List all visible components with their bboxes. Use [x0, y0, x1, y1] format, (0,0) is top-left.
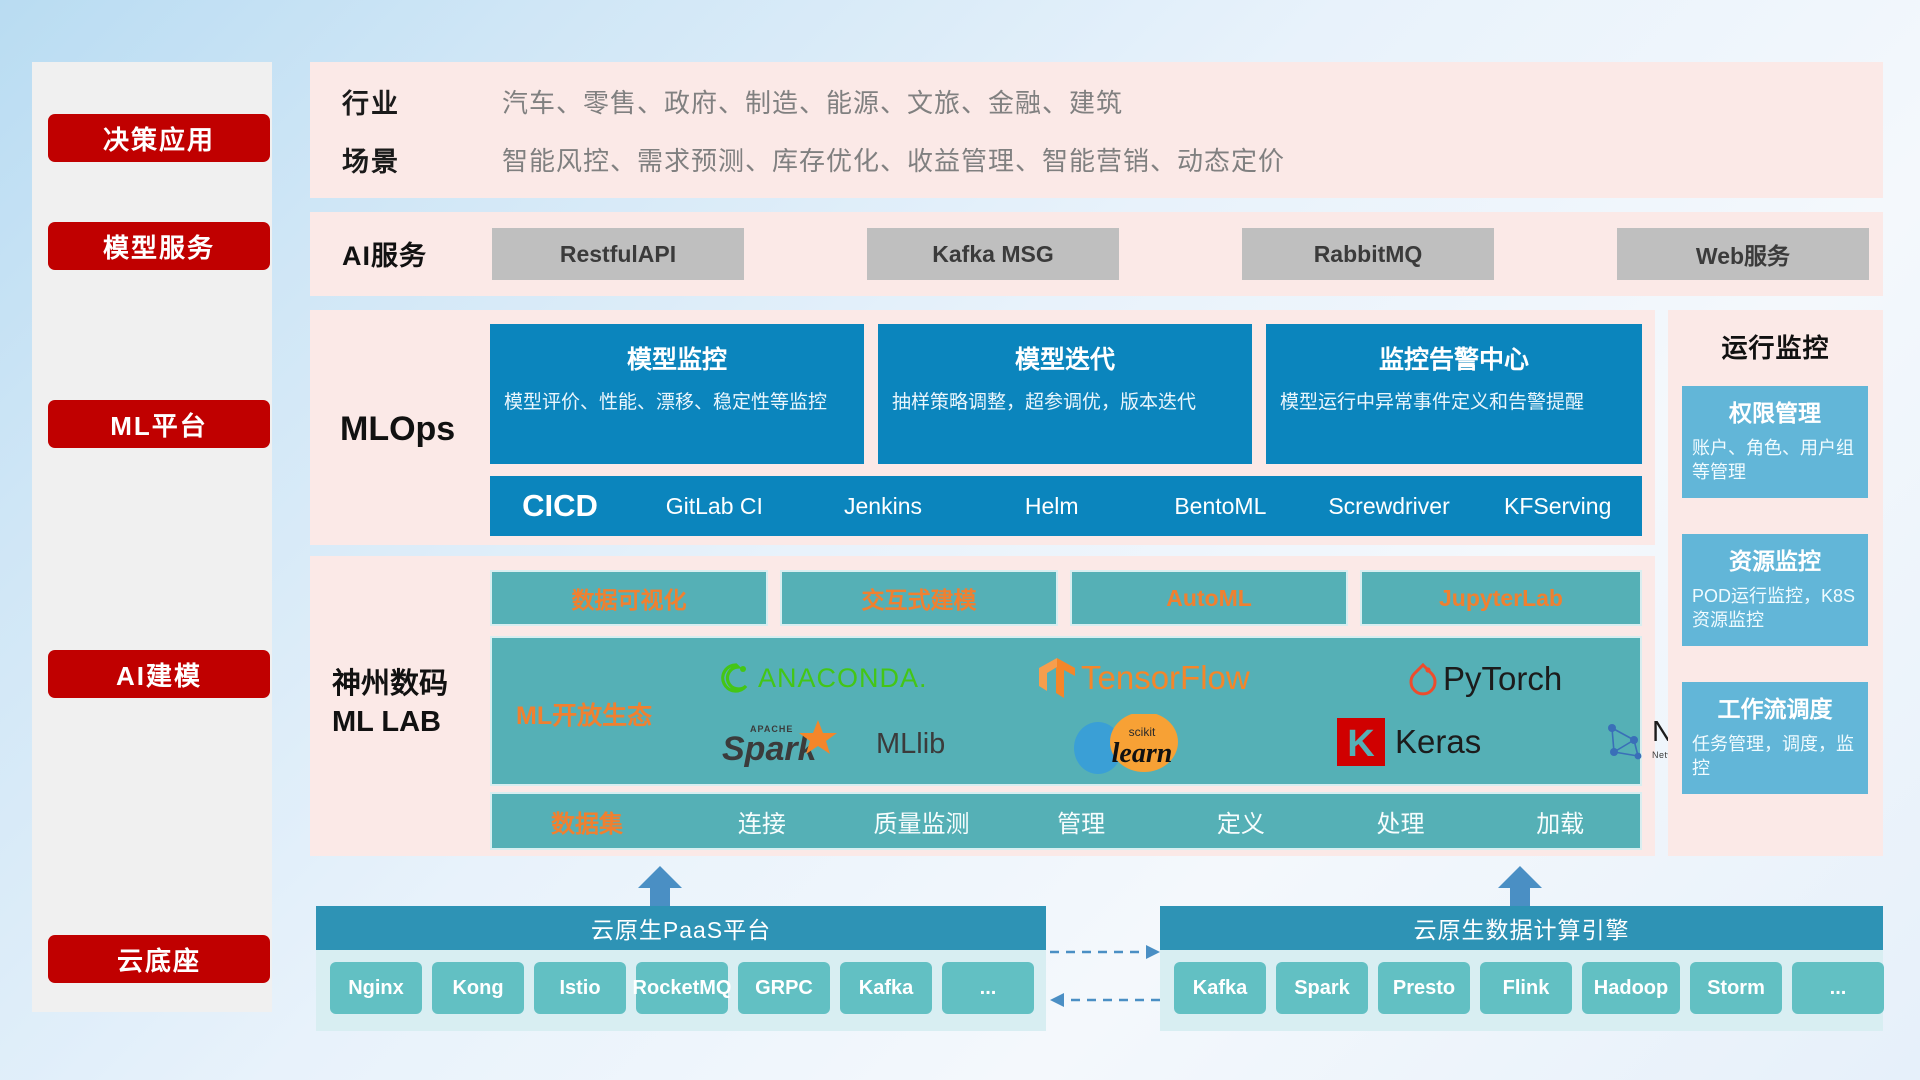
- rail-item-cloud-base[interactable]: 云底座: [48, 935, 270, 983]
- rail-item-ml-platform[interactable]: ML平台: [48, 400, 270, 448]
- mllib-label: MLlib: [876, 728, 945, 761]
- chip-more-right[interactable]: ...: [1792, 962, 1884, 1014]
- tool-label: JupyterLab: [1439, 585, 1563, 612]
- scikit-learn-logo: scikit learn: [1072, 714, 1252, 776]
- scikit-learn-icon: scikit learn: [1072, 714, 1252, 776]
- keras-logo: K Keras: [1337, 718, 1481, 766]
- dataset-item-management[interactable]: 管理: [1001, 804, 1161, 839]
- spark-icon: Spark APACHE: [720, 718, 870, 770]
- chip-kafka-left[interactable]: Kafka: [840, 962, 932, 1014]
- rail-label: 决策应用: [103, 120, 215, 157]
- card-desc: POD运行监控，K8S资源监控: [1692, 584, 1858, 633]
- chip-label: RocketMQ: [633, 977, 732, 999]
- chip-spark[interactable]: Spark: [1276, 962, 1368, 1014]
- mlops-card-model-monitoring[interactable]: 模型监控 模型评价、性能、漂移、稳定性等监控: [490, 324, 864, 464]
- engine-title-right: 云原生数据计算引擎: [1160, 906, 1883, 950]
- ai-service-band: AI服务 RestfulAPI Kafka MSG RabbitMQ Web服务: [310, 212, 1883, 296]
- chip-label: Istio: [559, 977, 600, 999]
- tool-label: AutoML: [1166, 585, 1252, 612]
- rail-label: AI建模: [116, 656, 202, 693]
- chip-presto[interactable]: Presto: [1378, 962, 1470, 1014]
- paas-title-left: 云原生PaaS平台: [316, 906, 1046, 950]
- card-title: 资源监控: [1692, 542, 1858, 576]
- bidirectional-connector: [1046, 940, 1166, 1020]
- keras-label: Keras: [1395, 723, 1481, 761]
- chip-rocketmq[interactable]: RocketMQ: [636, 962, 728, 1014]
- cicd-item-gitlab-ci[interactable]: GitLab CI: [630, 493, 799, 519]
- mlops-band: MLOps 模型监控 模型评价、性能、漂移、稳定性等监控 模型迭代 抽样策略调整…: [310, 310, 1655, 545]
- tensorflow-logo: TensorFlow: [1037, 656, 1250, 700]
- runtime-monitoring-title: 运行监控: [1668, 310, 1883, 365]
- cicd-label: CICD: [490, 488, 630, 524]
- cicd-bar: CICD GitLab CI Jenkins Helm BentoML Scre…: [490, 476, 1642, 536]
- tool-interactive-modeling[interactable]: 交互式建模: [780, 570, 1058, 626]
- tool-data-visualization[interactable]: 数据可视化: [490, 570, 768, 626]
- spark-mllib-logo: Spark APACHE MLlib: [720, 718, 945, 770]
- dataset-bar: 数据集 连接 质量监测 管理 定义 处理 加载: [490, 792, 1642, 850]
- card-title: 监控告警中心: [1280, 340, 1628, 376]
- dataset-item-quality-monitoring[interactable]: 质量监测: [842, 804, 1002, 839]
- rail-label: ML平台: [110, 406, 208, 443]
- cicd-item-screwdriver[interactable]: Screwdriver: [1305, 493, 1474, 519]
- service-box-web-service[interactable]: Web服务: [1617, 228, 1869, 280]
- chip-storm[interactable]: Storm: [1690, 962, 1782, 1014]
- card-desc: 任务管理，调度，监控: [1692, 732, 1858, 781]
- tool-automl[interactable]: AutoML: [1070, 570, 1348, 626]
- chip-label: Flink: [1503, 977, 1550, 999]
- industry-list: 汽车、零售、政府、制造、能源、文旅、金融、建筑: [502, 83, 1123, 120]
- card-title: 权限管理: [1692, 394, 1858, 428]
- mlops-card-model-iteration[interactable]: 模型迭代 抽样策略调整，超参调优，版本迭代: [878, 324, 1252, 464]
- scenario-label: 场景: [342, 140, 502, 179]
- card-title: 工作流调度: [1692, 690, 1858, 724]
- service-box-label: Web服务: [1696, 237, 1790, 271]
- chip-nginx[interactable]: Nginx: [330, 962, 422, 1014]
- dataset-item-loading[interactable]: 加载: [1480, 804, 1640, 839]
- runtime-monitoring-panel: 运行监控 权限管理 账户、角色、用户组等管理 资源监控 POD运行监控，K8S资…: [1668, 310, 1883, 856]
- networkx-icon: [1602, 718, 1646, 764]
- engine-title-label: 云原生数据计算引擎: [1414, 911, 1630, 945]
- chip-flink[interactable]: Flink: [1480, 962, 1572, 1014]
- chip-label: Kafka: [859, 977, 913, 999]
- left-rail: [32, 62, 272, 1012]
- chip-label: Hadoop: [1594, 977, 1668, 999]
- ml-ecosystem-title: ML开放生态: [516, 696, 652, 732]
- card-desc: 模型运行中异常事件定义和告警提醒: [1280, 390, 1628, 416]
- chip-label: Presto: [1393, 977, 1455, 999]
- architecture-diagram: 决策应用 模型服务 ML平台 AI建模 云底座 行业 汽车、零售、政府、制造、能…: [0, 0, 1920, 1080]
- cicd-item-jenkins[interactable]: Jenkins: [799, 493, 968, 519]
- rail-item-model-service[interactable]: 模型服务: [48, 222, 270, 270]
- chip-label: ...: [980, 977, 997, 999]
- chip-label: Storm: [1707, 977, 1765, 999]
- mon-card-resource[interactable]: 资源监控 POD运行监控，K8S资源监控: [1682, 534, 1868, 646]
- card-title: 模型迭代: [892, 340, 1238, 376]
- mlops-card-alert-center[interactable]: 监控告警中心 模型运行中异常事件定义和告警提醒: [1266, 324, 1642, 464]
- keras-icon: K: [1337, 718, 1385, 766]
- chip-label: Kafka: [1193, 977, 1247, 999]
- svg-text:scikit: scikit: [1129, 725, 1156, 739]
- svg-text:learn: learn: [1112, 738, 1173, 769]
- chip-grpc[interactable]: GRPC: [738, 962, 830, 1014]
- industry-label: 行业: [342, 82, 502, 121]
- tool-label: 交互式建模: [862, 581, 977, 615]
- tool-label: 数据可视化: [572, 581, 687, 615]
- rail-item-decision-app[interactable]: 决策应用: [48, 114, 270, 162]
- chip-label: Kong: [452, 977, 503, 999]
- ai-modeling-band: 神州数码 ML LAB 数据可视化 交互式建模 AutoML JupyterLa…: [310, 556, 1655, 856]
- anaconda-icon: [720, 662, 752, 694]
- industry-scenario-band: 行业 汽车、零售、政府、制造、能源、文旅、金融、建筑 场景 智能风控、需求预测、…: [310, 62, 1883, 198]
- scenario-list: 智能风控、需求预测、库存优化、收益管理、智能营销、动态定价: [502, 141, 1285, 178]
- ml-lab-label: 神州数码 ML LAB: [332, 666, 448, 741]
- tool-jupyterlab[interactable]: JupyterLab: [1360, 570, 1642, 626]
- service-box-rabbitmq[interactable]: RabbitMQ: [1242, 228, 1494, 280]
- chip-label: Nginx: [348, 977, 404, 999]
- ai-service-label: AI服务: [342, 234, 427, 273]
- arrow-up-right-icon: [1490, 866, 1550, 910]
- chip-label: Spark: [1294, 977, 1350, 999]
- chip-kafka-right[interactable]: Kafka: [1174, 962, 1266, 1014]
- pytorch-label: PyTorch: [1443, 660, 1562, 698]
- ml-lab-label-line2: ML LAB: [332, 704, 448, 742]
- anaconda-label: ANACONDA.: [758, 663, 928, 694]
- rail-label: 云底座: [117, 941, 201, 978]
- card-desc: 抽样策略调整，超参调优，版本迭代: [892, 390, 1238, 416]
- dataset-label: 数据集: [492, 804, 682, 839]
- service-box-label: RabbitMQ: [1314, 241, 1423, 268]
- chip-label: ...: [1830, 977, 1847, 999]
- cicd-item-helm[interactable]: Helm: [967, 493, 1136, 519]
- mon-card-workflow[interactable]: 工作流调度 任务管理，调度，监控: [1682, 682, 1868, 794]
- chip-label: GRPC: [755, 977, 813, 999]
- anaconda-logo: ANACONDA.: [720, 662, 928, 694]
- paas-title-label: 云原生PaaS平台: [591, 911, 771, 945]
- service-box-restfulapi[interactable]: RestfulAPI: [492, 228, 744, 280]
- tensorflow-icon: [1037, 656, 1077, 700]
- chip-hadoop[interactable]: Hadoop: [1582, 962, 1680, 1014]
- cicd-item-bentoml[interactable]: BentoML: [1136, 493, 1305, 519]
- tensorflow-label: TensorFlow: [1081, 659, 1250, 697]
- mon-card-permission[interactable]: 权限管理 账户、角色、用户组等管理: [1682, 386, 1868, 498]
- chip-istio[interactable]: Istio: [534, 962, 626, 1014]
- service-box-label: RestfulAPI: [560, 241, 676, 268]
- service-box-label: Kafka MSG: [932, 241, 1053, 268]
- arrow-up-left-icon: [630, 866, 690, 910]
- service-box-kafka-msg[interactable]: Kafka MSG: [867, 228, 1119, 280]
- dataset-item-connect[interactable]: 连接: [682, 804, 842, 839]
- mlops-label: MLOps: [340, 410, 455, 449]
- chip-kong[interactable]: Kong: [432, 962, 524, 1014]
- ml-lab-label-line1: 神州数码: [332, 666, 448, 704]
- chip-more-left[interactable]: ...: [942, 962, 1034, 1014]
- svg-text:APACHE: APACHE: [750, 724, 793, 734]
- pytorch-icon: [1407, 661, 1439, 697]
- card-desc: 模型评价、性能、漂移、稳定性等监控: [504, 390, 850, 416]
- svg-text:K: K: [1347, 723, 1375, 765]
- rail-label: 模型服务: [103, 228, 215, 265]
- card-desc: 账户、角色、用户组等管理: [1692, 436, 1858, 485]
- card-title: 模型监控: [504, 340, 850, 376]
- pytorch-logo: PyTorch: [1407, 660, 1562, 698]
- dataset-item-definition[interactable]: 定义: [1161, 804, 1321, 839]
- rail-item-ai-modeling[interactable]: AI建模: [48, 650, 270, 698]
- ml-ecosystem-panel: ML开放生态 ANACONDA. TensorFlow: [490, 636, 1642, 786]
- dataset-item-processing[interactable]: 处理: [1321, 804, 1481, 839]
- cicd-item-kfserving[interactable]: KFServing: [1473, 493, 1642, 519]
